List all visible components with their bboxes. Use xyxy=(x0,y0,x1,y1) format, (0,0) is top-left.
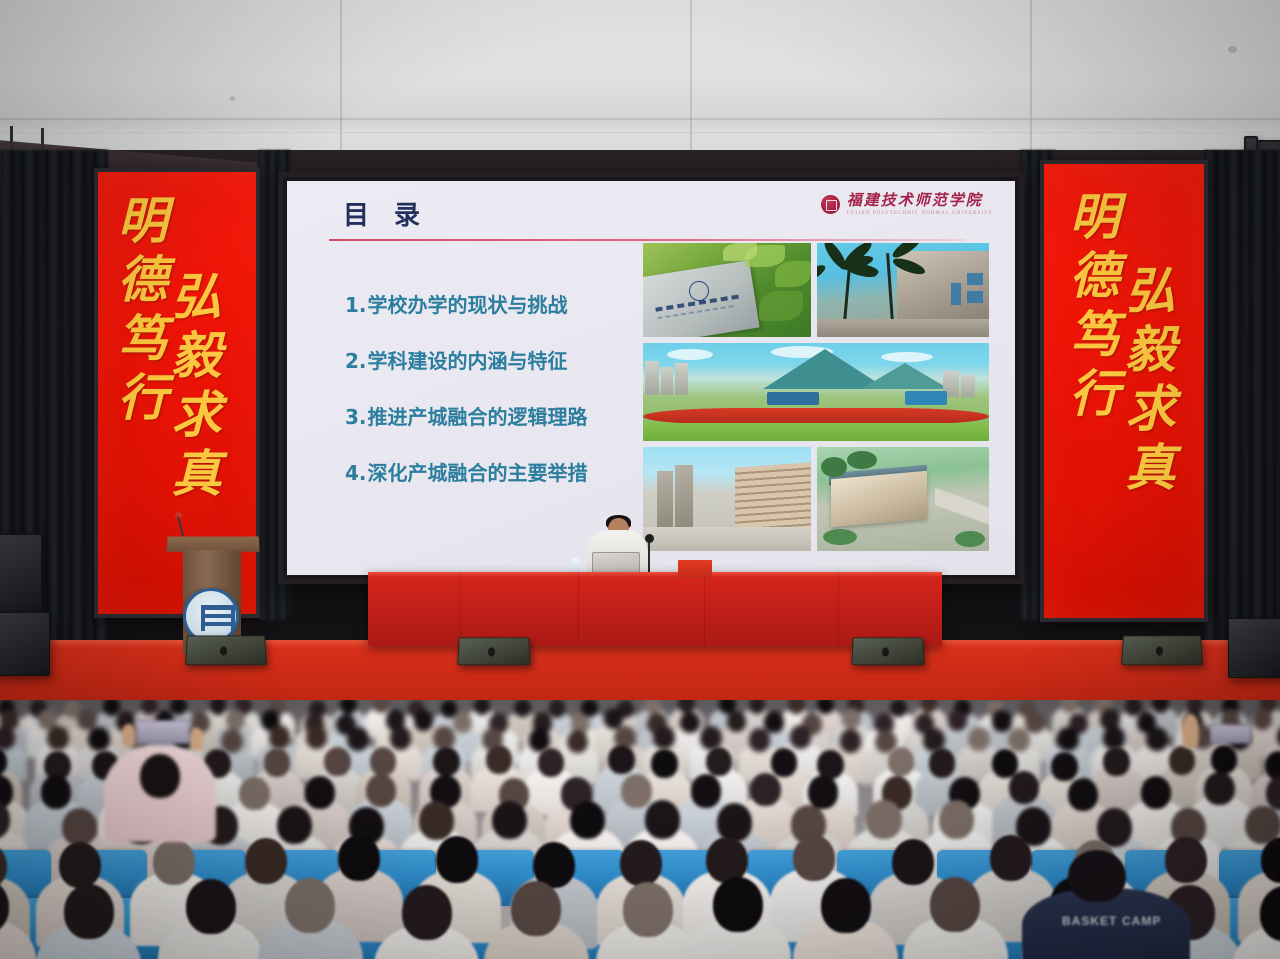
logo-name-en: FUJIAN POLYTECHNIC NORMAL UNIVERSITY xyxy=(847,211,993,216)
photo-campus-sign xyxy=(643,243,811,337)
smartphone xyxy=(136,720,190,744)
toc-item: 1.学校办学的现状与挑战 xyxy=(345,289,645,318)
floor-monitor xyxy=(185,635,267,665)
toc-item-number: 2. xyxy=(345,349,367,373)
logo-name-cn: 福建技术师范学院 xyxy=(847,193,993,208)
audience: BASKET CAMP xyxy=(0,700,1280,959)
smartphone xyxy=(1210,724,1252,744)
projection-screen: 目 录 福建技术师范学院 FUJIAN POLYTECHNIC NORMAL U… xyxy=(278,172,1024,584)
photo-dormitory xyxy=(643,447,811,551)
wall-panel-joint xyxy=(340,0,342,170)
banner-right-line2: 弘毅求真 xyxy=(1120,264,1173,500)
slide-photo-collage xyxy=(643,243,989,563)
toc-item-number: 1. xyxy=(345,293,367,317)
toc-item: 2.学科建设的内涵与特征 xyxy=(345,345,645,374)
wall-blemish xyxy=(230,96,235,101)
banner-right: 明德笃行 弘毅求真 xyxy=(1040,160,1208,622)
toc-item-label: 学校办学的现状与挑战 xyxy=(368,293,568,317)
toc-item-label: 学科建设的内涵与特征 xyxy=(368,349,568,373)
name-card xyxy=(678,560,712,578)
toc-item: 4.深化产城融合的主要举措 xyxy=(345,457,645,486)
floor-monitor xyxy=(851,637,925,665)
head-table xyxy=(368,572,942,646)
wall-panel-joint xyxy=(690,0,692,170)
campus-sign-seal-icon xyxy=(689,281,709,301)
table-microphone-icon xyxy=(645,534,654,543)
stage-curtain-right xyxy=(1204,150,1280,695)
banner-left-line1: 明德笃行 xyxy=(112,194,165,430)
slide-divider-rule xyxy=(329,239,965,241)
photo-palms-building xyxy=(817,243,989,337)
wall-seam xyxy=(0,118,1280,120)
slide-title: 目 录 xyxy=(343,195,428,232)
pa-speaker-stack-right xyxy=(1228,618,1280,678)
lecture-hall-photo: 明德笃行 弘毅求真 明德笃行 弘毅求真 目 录 福建技术师范学院 FUJIAN … xyxy=(0,0,1280,959)
banner-left-line2: 弘毅求真 xyxy=(166,270,219,506)
pa-speaker-stack-left xyxy=(0,612,50,676)
toc-item-label: 推进产城融合的逻辑理路 xyxy=(368,405,588,429)
table-microphone-stand xyxy=(648,540,650,576)
jacket-print-line1: BASKET xyxy=(1062,914,1117,928)
wall-seam-secondary xyxy=(0,132,1280,133)
toc-item-number: 3. xyxy=(345,405,367,429)
toc-item: 3.推进产城融合的逻辑理路 xyxy=(345,401,645,430)
photo-academic-building xyxy=(817,447,989,551)
wall-panel-joint xyxy=(1030,0,1032,170)
floor-monitor xyxy=(1121,635,1203,665)
presentation-slide: 目 录 福建技术师范学院 FUJIAN POLYTECHNIC NORMAL U… xyxy=(287,181,1015,575)
banner-right-line1: 明德笃行 xyxy=(1064,190,1117,426)
wall-blemish xyxy=(1228,46,1237,53)
toc-item-number: 4. xyxy=(345,461,367,485)
photo-aerial-campus xyxy=(643,343,989,441)
toc-item-label: 深化产城融合的主要举措 xyxy=(368,461,588,485)
jacket-print-line2: CAMP xyxy=(1122,914,1161,928)
university-logo: 福建技术师范学院 FUJIAN POLYTECHNIC NORMAL UNIVE… xyxy=(821,193,993,216)
university-seal-icon xyxy=(821,195,840,214)
slide-table-of-contents: 1.学校办学的现状与挑战 2.学科建设的内涵与特征 3.推进产城融合的逻辑理路 … xyxy=(345,289,645,513)
pa-speaker-stack-left xyxy=(0,534,42,614)
floor-monitor xyxy=(457,637,531,665)
